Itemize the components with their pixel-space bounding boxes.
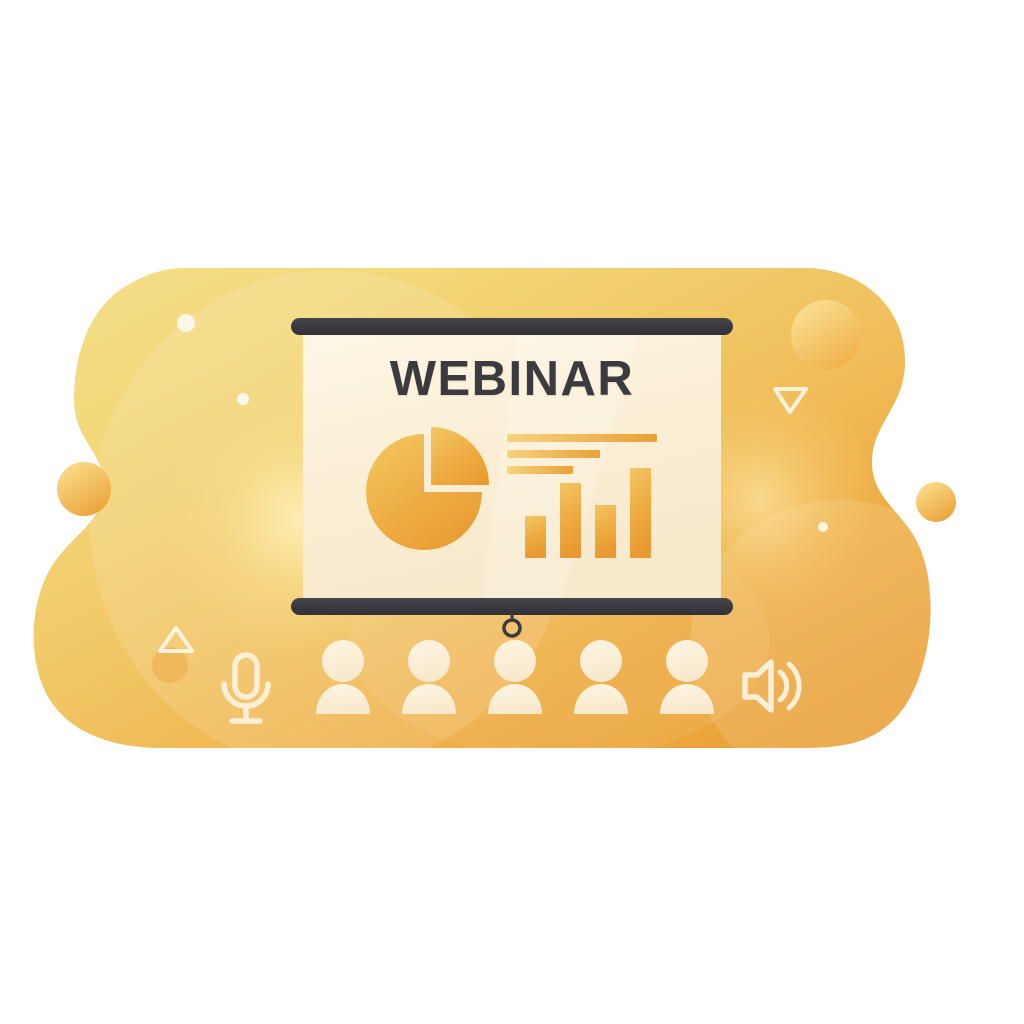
deco-dot-1 bbox=[177, 314, 195, 332]
text-line-1 bbox=[507, 434, 657, 442]
illustration-canvas: WEBINAR bbox=[0, 0, 1024, 1024]
webinar-title: WEBINAR bbox=[0, 355, 1024, 404]
deco-circle-right-outside bbox=[916, 482, 956, 522]
text-line-2 bbox=[507, 450, 600, 458]
deco-dot-3 bbox=[818, 522, 828, 532]
screen-top-bar[interactable] bbox=[291, 318, 733, 335]
deco-circle-left-outside bbox=[57, 462, 111, 516]
bar-1 bbox=[525, 516, 546, 558]
bar-2 bbox=[560, 483, 581, 558]
webinar-illustration bbox=[0, 0, 1024, 1024]
text-line-3 bbox=[507, 466, 573, 474]
bar-3 bbox=[595, 505, 616, 558]
bar-4 bbox=[630, 468, 651, 558]
screen-bottom-bar[interactable] bbox=[291, 598, 733, 615]
